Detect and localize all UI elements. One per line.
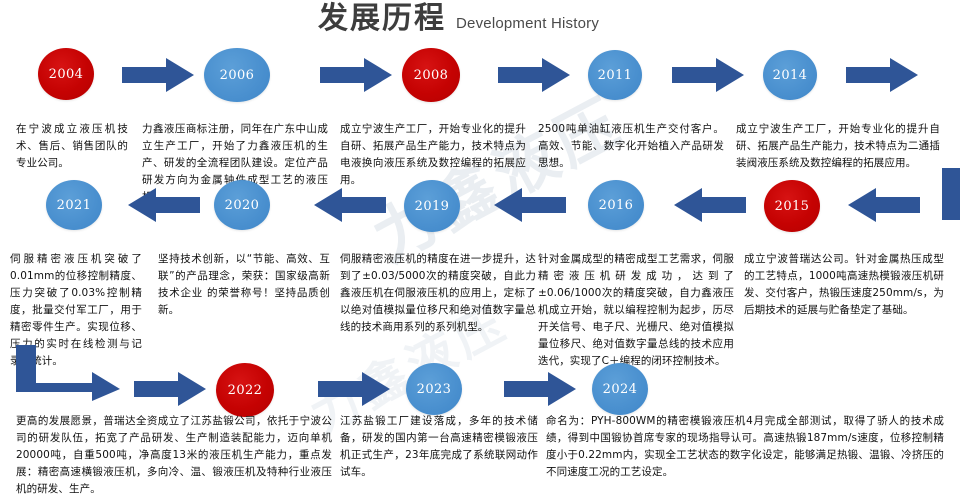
timeline-node-2014[interactable]: 2014 <box>763 50 817 100</box>
timeline-text-2008: 成立宁波生产工厂，开始专业化的提升自研、拓展产品生产能力，技术特点为电液换向液压… <box>340 121 526 189</box>
timeline-node-2014-year: 2014 <box>773 68 808 83</box>
timeline-node-2019-year: 2019 <box>415 199 450 214</box>
timeline-node-2008-year: 2008 <box>414 68 449 83</box>
arrow-left-2020-2021 <box>128 188 200 222</box>
timeline-text-2011: 2500吨单油缸液压机生产交付客户。高效、节能、数字化开始植入产品研发思想。 <box>538 121 724 172</box>
timeline-node-2023[interactable]: 2023 <box>406 363 462 415</box>
arrow-left-into-2015 <box>848 188 920 222</box>
timeline-node-2011-year: 2011 <box>598 68 633 83</box>
timeline-node-2021-year: 2021 <box>57 198 92 213</box>
timeline-text-2015: 成立宁波普瑞达公司。针对金属热压成型的工艺特点，1000吨高速热模锻液压机研发、… <box>744 251 944 319</box>
timeline-node-2020-year: 2020 <box>225 198 260 213</box>
timeline-text-2020: 坚持技术创新，以“节能、高效、互联”的产品理念，荣获：国家级高新技术企业 的荣誉… <box>158 251 330 319</box>
arrow-right-2014-end <box>846 58 918 92</box>
arrow-left-2016-2019 <box>494 188 566 222</box>
timeline-node-2008[interactable]: 2008 <box>402 48 460 102</box>
page-title-en: Development History <box>456 15 599 37</box>
timeline-node-2022[interactable]: 2022 <box>216 363 274 417</box>
timeline-text-2022: 更高的发展愿景，普瑞达全资成立了江苏盐锻公司，依托于宁波公司的研发队伍，拓宽了产… <box>16 413 332 498</box>
arrow-right-2004-2006 <box>122 58 194 92</box>
timeline-node-2019[interactable]: 2019 <box>404 180 460 232</box>
arrow-right-2008-2011 <box>498 58 570 92</box>
timeline-text-2024: 命名为：PYH-800WM的精密模锻液压机4月完成全部测试，取得了骄人的技术成绩… <box>546 413 944 481</box>
arrow-right-into-2022 <box>134 372 206 406</box>
timeline-node-2023-year: 2023 <box>417 382 452 397</box>
page-title-cn: 发展历程 <box>318 2 446 37</box>
timeline-node-2016-year: 2016 <box>599 198 634 213</box>
arrow-left-2015-2016 <box>674 188 746 222</box>
timeline-node-2011[interactable]: 2011 <box>588 50 642 100</box>
timeline-node-2024-year: 2024 <box>603 382 638 397</box>
timeline-node-2020[interactable]: 2020 <box>214 180 270 230</box>
timeline-node-2004[interactable]: 2004 <box>38 48 94 100</box>
page-title: 发展历程 Development History <box>318 2 599 37</box>
timeline-node-2006[interactable]: 2006 <box>204 48 270 102</box>
arrow-left-2019-2020 <box>314 188 386 222</box>
arrow-right-2006-2008 <box>320 58 392 92</box>
timeline-node-2024[interactable]: 2024 <box>592 363 648 415</box>
timeline-node-2021[interactable]: 2021 <box>46 180 102 230</box>
timeline-infographic: 力鑫液压 力鑫液压 发展历程 Development History 2004 … <box>0 0 960 500</box>
timeline-node-2016[interactable]: 2016 <box>588 180 644 230</box>
timeline-text-2019: 伺服精密液压机的精度在进一步提升，达到了±0.03/5000次的精度突破，自此力… <box>340 251 536 336</box>
timeline-text-2014: 成立宁波生产工厂，开始专业化的提升自研、拓展产品生产能力，技术特点为二通插装阀液… <box>736 121 940 172</box>
timeline-node-2006-year: 2006 <box>220 68 255 83</box>
connector-elbow-left-row2-row3 <box>16 345 120 401</box>
timeline-node-2015-year: 2015 <box>775 199 810 214</box>
timeline-node-2022-year: 2022 <box>228 383 263 398</box>
timeline-node-2004-year: 2004 <box>49 67 84 82</box>
arrow-right-2011-2014 <box>672 58 744 92</box>
timeline-text-2004: 在宁波成立液压机技术、售后、销售团队的专业公司。 <box>16 121 128 172</box>
arrow-right-2022-2023 <box>318 372 390 406</box>
timeline-node-2015[interactable]: 2015 <box>764 180 820 232</box>
arrow-right-2023-2024 <box>504 372 576 406</box>
timeline-text-2023: 江苏盐锻工厂建设落成，多年的技术储备，研发的国内第一台高速精密模锻液压机正式生产… <box>340 413 538 481</box>
timeline-text-2016: 针对金属成型的精密成型工艺需求，伺服精密液压机研发成功，达到了±0.06/100… <box>538 251 734 370</box>
